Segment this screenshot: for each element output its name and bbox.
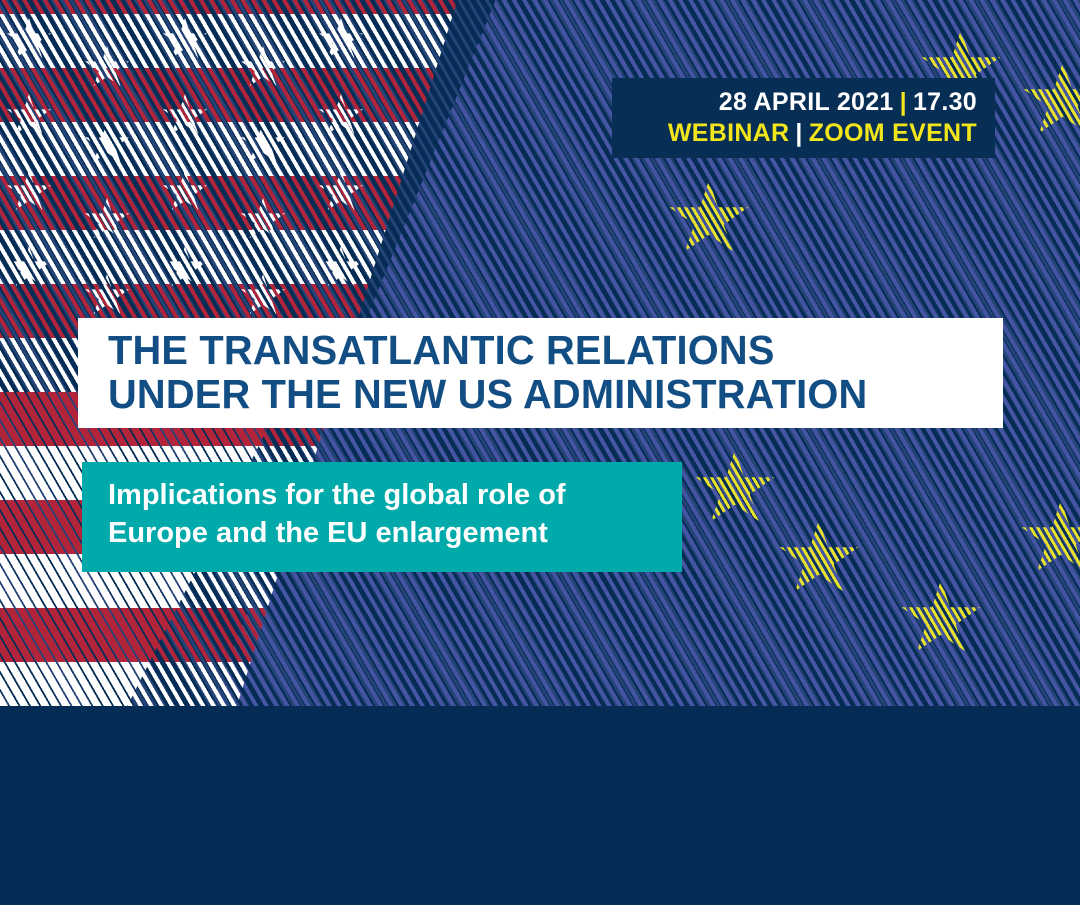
event-time: 17.30: [913, 88, 977, 116]
format-separator: |: [789, 119, 808, 147]
white-star-icon: [162, 94, 208, 138]
event-format: WEBINAR: [668, 119, 790, 147]
yellow-star-icon: [1022, 62, 1080, 140]
white-star-icon: [162, 170, 208, 214]
white-star-icon: [6, 94, 52, 138]
white-star-icon: [84, 274, 130, 318]
white-star-icon: [162, 246, 208, 290]
white-star-icon: [318, 94, 364, 138]
white-star-icon: [318, 246, 364, 290]
white-star-icon: [84, 46, 130, 90]
white-star-icon: [318, 18, 364, 62]
white-star-icon: [162, 18, 208, 62]
event-title-line-2: UNDER THE NEW US ADMINISTRATION: [108, 372, 976, 416]
event-date: 28 APRIL 2021: [719, 88, 894, 116]
yellow-star-icon: [694, 450, 776, 528]
white-star-icon: [84, 122, 130, 166]
event-format-line: WEBINAR|ZOOM EVENT: [668, 119, 977, 148]
yellow-star-icon: [900, 580, 982, 658]
white-star-icon: [6, 246, 52, 290]
event-title-line-1: THE TRANSATLANTIC RELATIONS: [108, 328, 976, 372]
event-subtitle-band: Implications for the global role of Euro…: [82, 462, 682, 572]
white-star-icon: [6, 170, 52, 214]
date-separator: |: [894, 88, 913, 116]
yellow-star-icon: [1020, 500, 1080, 578]
white-star-icon: [240, 46, 286, 90]
white-star-icon: [240, 274, 286, 318]
event-date-time: 28 APRIL 2021|17.30: [719, 88, 977, 117]
yellow-star-icon: [778, 520, 860, 598]
white-star-icon: [318, 170, 364, 214]
white-star-icon: [240, 122, 286, 166]
event-subtitle-line-2: Europe and the EU enlargement: [108, 515, 682, 553]
white-star-icon: [240, 198, 286, 242]
event-title-band: THE TRANSATLANTIC RELATIONS UNDER THE NE…: [78, 318, 1003, 428]
event-platform: ZOOM EVENT: [809, 119, 977, 147]
event-date-panel: 28 APRIL 2021|17.30 WEBINAR|ZOOM EVENT: [612, 78, 995, 158]
yellow-star-icon: [668, 180, 750, 258]
white-star-icon: [84, 198, 130, 242]
white-star-icon: [6, 18, 52, 62]
poster-footer: KONRAD ADENAUER STIFTUNG REGISTER NOW VI…: [0, 706, 1080, 905]
event-subtitle-line-1: Implications for the global role of: [108, 477, 682, 515]
event-poster: 28 APRIL 2021|17.30 WEBINAR|ZOOM EVENT T…: [0, 0, 1080, 905]
